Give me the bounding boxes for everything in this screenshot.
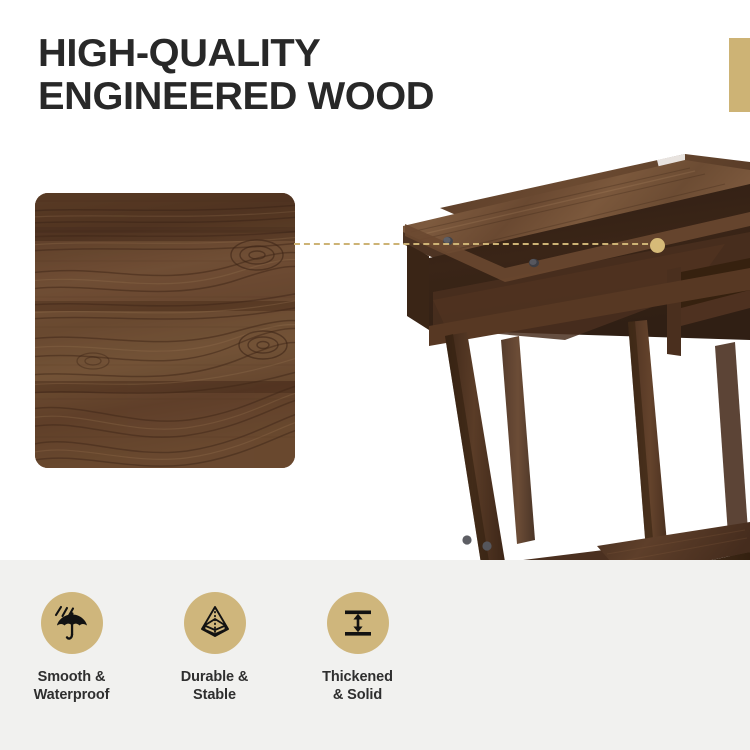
feature-icon-circle [41, 592, 103, 654]
feature-list: Smooth & Waterproof Durable & Stable [0, 592, 430, 704]
page-title: HIGH-QUALITY ENGINEERED WOOD [38, 32, 598, 118]
feature-label: Thickened & Solid [322, 668, 393, 704]
gold-accent-bar [729, 38, 750, 112]
feature-item-waterproof: Smooth & Waterproof [0, 592, 143, 704]
feature-label: Durable & Stable [181, 668, 249, 704]
wood-grain-swatch [35, 193, 295, 468]
feature-item-durable: Durable & Stable [143, 592, 286, 704]
thickness-arrow-icon [338, 603, 378, 643]
feature-label: Smooth & Waterproof [34, 668, 110, 704]
umbrella-rain-icon [52, 603, 92, 643]
layered-pyramid-icon [195, 603, 235, 643]
callout-dashed-line [294, 243, 658, 247]
headline-line-1: HIGH-QUALITY [38, 32, 609, 75]
feature-icon-circle [327, 592, 389, 654]
feature-icon-circle [184, 592, 246, 654]
headline-line-2: ENGINEERED WOOD [38, 75, 609, 118]
marketing-image: HIGH-QUALITY ENGINEERED WOOD [0, 0, 750, 750]
feature-item-thickened: Thickened & Solid [286, 592, 429, 704]
callout-target-dot [650, 238, 665, 253]
